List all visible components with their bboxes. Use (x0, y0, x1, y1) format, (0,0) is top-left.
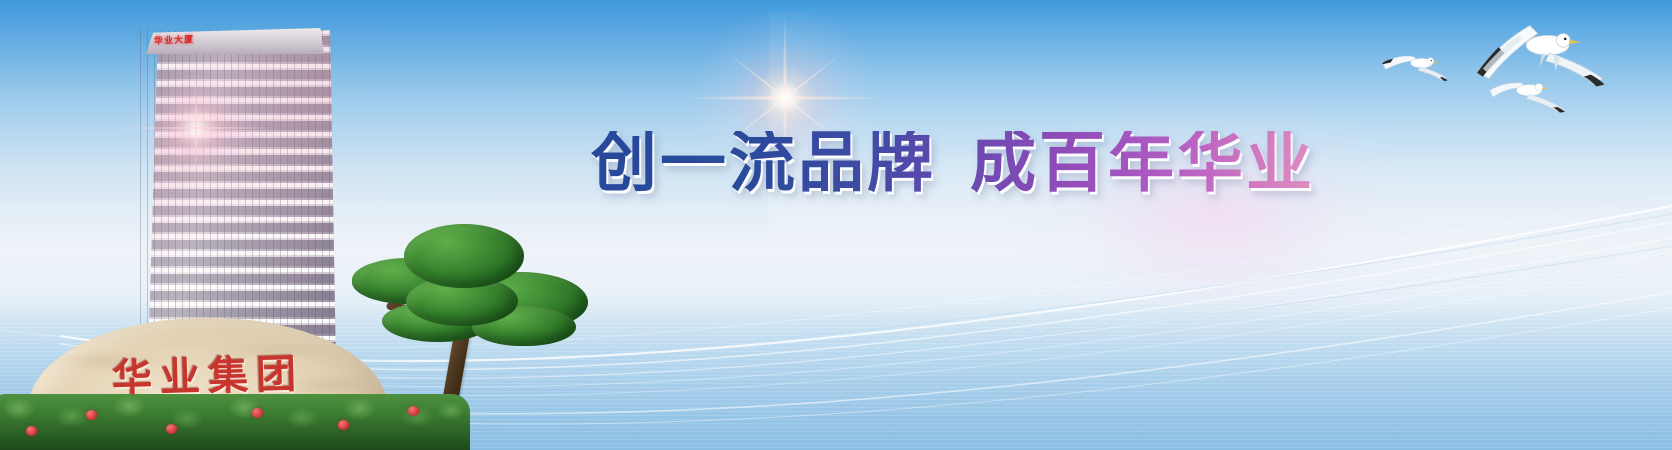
flower-blossom (26, 426, 37, 436)
hedge-row (0, 394, 470, 450)
flower-blossom (408, 406, 419, 416)
seagull-group (1372, 0, 1672, 130)
seagull-icon-partial (1490, 83, 1565, 113)
slogan-part-2: 成百年华业 (970, 127, 1315, 200)
slogan-headline: 创一流品牌成百年华业 (591, 131, 1315, 197)
tower-rose-tint (140, 30, 336, 368)
flower-blossom (338, 420, 349, 430)
tree-canopy-top (404, 224, 524, 288)
seagull-icon-small (1382, 56, 1448, 81)
flower-blossom (252, 408, 263, 418)
flower-blossom (166, 424, 177, 434)
flower-blossom (86, 410, 97, 420)
hedge-foliage-texture (0, 394, 470, 450)
office-tower: 华业大厦 (132, 16, 344, 368)
tower-rooftop-sign: 华业大厦 (154, 32, 194, 47)
hero-banner: 华业大厦 华业集团 (0, 0, 1672, 450)
slogan-part-1: 创一流品牌 (591, 127, 936, 200)
seagull-icon-large (1477, 26, 1604, 87)
